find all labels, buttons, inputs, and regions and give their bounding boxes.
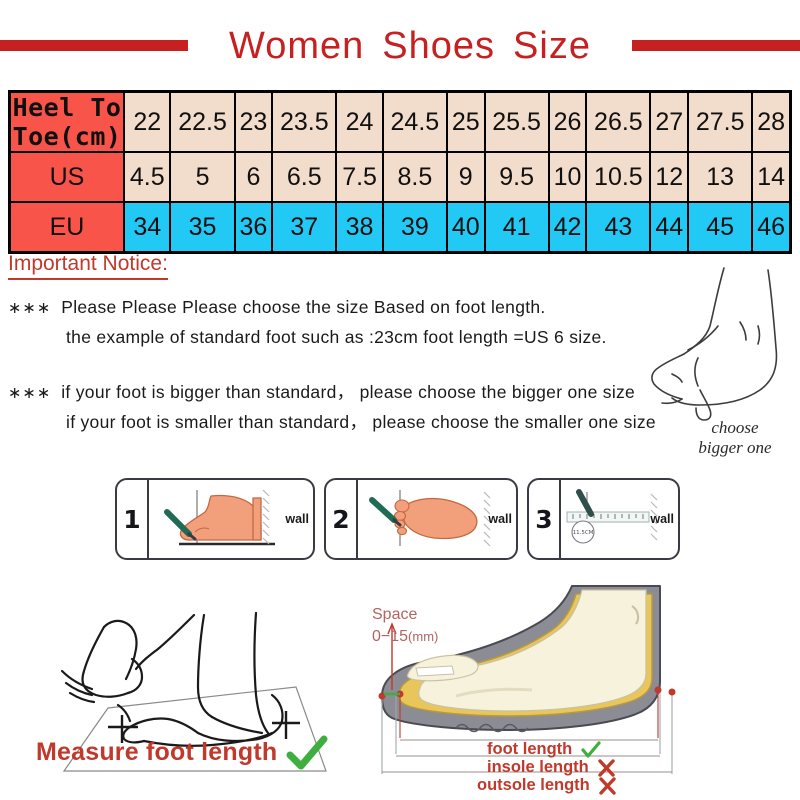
cell-cm: 23.5 (272, 92, 336, 152)
cell-us: 12 (650, 152, 688, 202)
cell-eu: 38 (336, 202, 382, 252)
cell-cm: 25 (447, 92, 485, 152)
row-label-eu: EU (10, 202, 124, 252)
header-banner: WomenShoesSize (0, 18, 800, 78)
check-icon (285, 735, 329, 775)
notice-text: Please Please Please choose the size Bas… (61, 297, 545, 317)
cell-cm: 23 (235, 92, 273, 152)
cell-eu: 44 (650, 202, 688, 252)
step-panel-3: 3 11.5CM (527, 478, 680, 560)
cell-eu: 42 (549, 202, 587, 252)
step-panel-2: 2 wall (324, 478, 518, 560)
space-range: 0−15 (372, 628, 408, 645)
measure-row-outsole-length: outsole length (477, 776, 617, 795)
cell-eu: 43 (586, 202, 650, 252)
measure-row-label: outsole length (477, 776, 590, 794)
cell-eu: 41 (485, 202, 549, 252)
space-label-line-1: Space (372, 604, 438, 626)
ruler-badge-text: 11.5CM (573, 530, 594, 536)
table-row-eu: EU 34 35 36 37 38 39 40 41 42 43 44 45 4… (10, 202, 790, 252)
notice-line: ∗∗∗Please Please Please choose the size … (8, 293, 607, 323)
cell-cm: 26.5 (586, 92, 650, 152)
sketch-caption: choose bigger one (676, 418, 794, 458)
cell-us: 6 (235, 152, 273, 202)
header-rule-left (0, 40, 188, 51)
notice-heading: Important Notice: (8, 252, 168, 280)
check-icon (581, 741, 601, 759)
measure-row-label: foot length (487, 740, 572, 758)
cell-us: 4.5 (124, 152, 170, 202)
title-word-3: Size (513, 25, 591, 67)
cell-eu: 34 (124, 202, 170, 252)
wall-label: wall (650, 512, 674, 526)
foot-side-sketch-icon (648, 262, 800, 442)
measure-row-foot-length: foot length (487, 740, 601, 759)
step-number: 1 (117, 480, 149, 558)
sketch-caption-line-1: choose (676, 418, 794, 438)
cell-us: 7.5 (336, 152, 382, 202)
step-illustration-1: wall (149, 480, 313, 558)
measure-caption: Measure foot length (36, 738, 277, 767)
page-title: WomenShoesSize (188, 18, 632, 74)
space-label-line-2: 0−15(mm) (372, 626, 438, 648)
cell-us: 14 (752, 152, 790, 202)
cell-us: 13 (688, 152, 752, 202)
cell-cm: 24.5 (383, 92, 447, 152)
notice-line: ∗∗∗if your foot is bigger than standard，… (8, 378, 656, 408)
step-panel-1: 1 wall (115, 478, 315, 560)
cell-cm: 22 (124, 92, 170, 152)
cell-cm: 27 (650, 92, 688, 152)
size-chart-table: Heel To Toe(cm) 22 22.5 23 23.5 24 24.5 … (8, 90, 792, 254)
row-label-us: US (10, 152, 124, 202)
header-rule-right (632, 40, 800, 51)
cell-us: 8.5 (383, 152, 447, 202)
cell-cm: 26 (549, 92, 587, 152)
notice-stars: ∗∗∗ (8, 385, 51, 402)
sketch-caption-line-2: bigger one (676, 438, 794, 458)
notice-line: the example of standard foot such as :23… (8, 323, 607, 351)
cell-us: 10 (549, 152, 587, 202)
space-label: Space 0−15(mm) (372, 604, 438, 648)
cell-eu: 36 (235, 202, 273, 252)
cell-us: 5 (170, 152, 234, 202)
wall-label: wall (285, 512, 309, 526)
notice-stars: ∗∗∗ (8, 300, 51, 317)
notice-line: if your foot is smaller than standard， p… (8, 408, 656, 436)
step-illustration-3: 11.5CM wall (561, 480, 678, 558)
cell-us: 9.5 (485, 152, 549, 202)
table-row-us: US 4.5 5 6 6.5 7.5 8.5 9 9.5 10 10.5 12 … (10, 152, 790, 202)
cell-eu: 37 (272, 202, 336, 252)
space-unit: (mm) (408, 629, 438, 644)
notice-block-1: ∗∗∗Please Please Please choose the size … (8, 293, 607, 351)
row-label-heel-to-toe: Heel To Toe(cm) (10, 92, 124, 152)
cell-eu: 45 (688, 202, 752, 252)
cell-cm: 22.5 (170, 92, 234, 152)
title-word-2: Shoes (382, 25, 495, 67)
cell-cm: 27.5 (688, 92, 752, 152)
cell-cm: 25.5 (485, 92, 549, 152)
cell-eu: 35 (170, 202, 234, 252)
cell-cm: 24 (336, 92, 382, 152)
cell-us: 6.5 (272, 152, 336, 202)
cell-us: 10.5 (586, 152, 650, 202)
measure-row-label: insole length (487, 758, 589, 776)
cross-icon (597, 759, 616, 777)
cell-eu: 46 (752, 202, 790, 252)
measure-row-insole-length: insole length (487, 758, 616, 777)
cell-eu: 40 (447, 202, 485, 252)
cell-cm: 28 (752, 92, 790, 152)
notice-text: if your foot is bigger than standard， pl… (61, 382, 635, 402)
table-row-heel-to-toe: Heel To Toe(cm) 22 22.5 23 23.5 24 24.5 … (10, 92, 790, 152)
measurement-steps: 1 wall 2 (115, 478, 667, 556)
wall-label: wall (488, 512, 512, 526)
cross-icon (598, 777, 617, 795)
cell-us: 9 (447, 152, 485, 202)
cell-eu: 39 (383, 202, 447, 252)
step-number: 2 (326, 480, 358, 558)
title-word-1: Women (229, 25, 364, 67)
step-number: 3 (529, 480, 561, 558)
step-illustration-2: wall (358, 480, 516, 558)
notice-block-2: ∗∗∗if your foot is bigger than standard，… (8, 378, 656, 436)
